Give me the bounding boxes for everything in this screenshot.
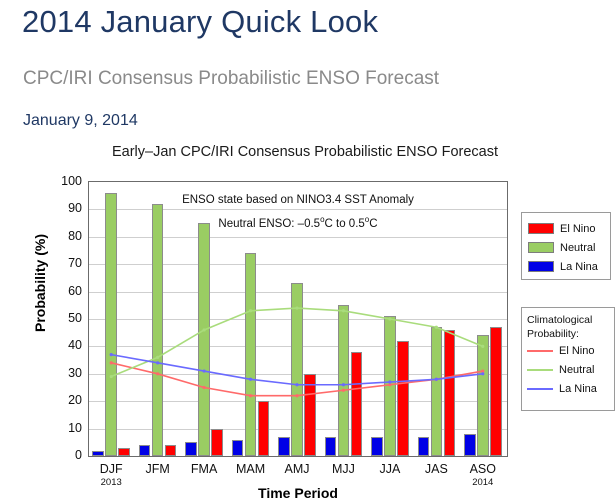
climatology-point: [249, 309, 252, 312]
x-axis-tick-label: AMJ: [284, 462, 309, 476]
page-date: January 9, 2014: [23, 112, 138, 130]
climatology-point: [481, 345, 484, 348]
legend-swatch-icon: [528, 261, 554, 272]
climatology-point: [481, 369, 484, 372]
legend-climatology-heading-1: Climatological: [527, 313, 614, 327]
climatology-point: [110, 353, 113, 356]
chart-annotation-neutral-range: Neutral ENSO: –0.5oC to 0.5oC: [89, 215, 507, 230]
climatology-point: [435, 378, 438, 381]
climatology-point: [295, 383, 298, 386]
climatology-point: [295, 306, 298, 309]
y-axis-tick-label: 100: [44, 175, 82, 187]
x-axis-tick-label: JJA: [379, 462, 400, 476]
legend-swatch-icon: [528, 223, 554, 234]
legend-clim-item-el-nino: El Nino: [527, 341, 614, 360]
x-axis-label-group: MAM: [227, 462, 273, 476]
enso-forecast-chart: Early–Jan CPC/IRI Consensus Probabilisti…: [0, 140, 616, 502]
x-axis-tick-label: JFM: [146, 462, 170, 476]
climatology-point: [342, 389, 345, 392]
x-axis-label-group: JFM: [134, 462, 180, 476]
page-title: 2014 January Quick Look: [22, 4, 378, 40]
climatology-point: [110, 361, 113, 364]
y-axis-tick-label: 70: [44, 257, 82, 269]
climatology-point: [481, 372, 484, 375]
y-axis-tick-label: 80: [44, 230, 82, 242]
climatology-point: [388, 383, 391, 386]
chart-title: Early–Jan CPC/IRI Consensus Probabilisti…: [60, 144, 550, 160]
x-axis-tick-label: JAS: [425, 462, 448, 476]
x-axis-tick-label: ASO: [470, 462, 496, 476]
x-axis-label-group: JJA: [367, 462, 413, 476]
climatology-point: [295, 394, 298, 397]
annotation-neutral-mid: C to 0.5: [325, 218, 365, 230]
legend-label: Neutral: [559, 364, 594, 376]
y-axis-title-wrap: Probability (%): [0, 275, 120, 295]
legend-clim-item-la-nina: La Nina: [527, 379, 614, 398]
chart-annotation-enso-state: ENSO state based on NINO3.4 SST Anomaly: [89, 194, 507, 206]
y-axis-tick-label: 20: [44, 394, 82, 406]
legend-label: La Nina: [560, 261, 598, 273]
climatology-point: [388, 317, 391, 320]
y-axis-tick-label: 40: [44, 339, 82, 351]
climatology-point: [156, 372, 159, 375]
climatology-point: [203, 386, 206, 389]
legend-item-neutral: Neutral: [528, 238, 610, 257]
climatology-point: [342, 309, 345, 312]
legend-label: El Nino: [559, 345, 594, 357]
climatology-point: [203, 369, 206, 372]
legend-clim-item-neutral: Neutral: [527, 360, 614, 379]
legend-line-icon: [527, 369, 553, 371]
climatology-point: [203, 328, 206, 331]
x-axis-tick-label: FMA: [191, 462, 217, 476]
y-axis-tick-label: 10: [44, 422, 82, 434]
legend-label: La Nina: [559, 383, 597, 395]
legend-line-icon: [527, 388, 553, 390]
annotation-neutral-post: C: [369, 218, 377, 230]
plot-area: ENSO state based on NINO3.4 SST Anomaly …: [88, 181, 508, 457]
climatology-point: [342, 383, 345, 386]
legend-item-el-nino: El Nino: [528, 219, 610, 238]
legend-climatology-rows: El NinoNeutralLa Nina: [527, 341, 614, 398]
annotation-neutral-pre: Neutral ENSO: –0.5: [218, 218, 320, 230]
x-axis-tick-label: MJJ: [332, 462, 355, 476]
x-axis-title: Time Period: [88, 485, 508, 501]
y-axis-tick-label: 90: [44, 202, 82, 214]
y-axis-tick-label: 0: [44, 449, 82, 461]
climatology-point: [110, 375, 113, 378]
y-axis-tick-label: 30: [44, 367, 82, 379]
climatology-point: [435, 326, 438, 329]
climatology-point: [249, 394, 252, 397]
page-subtitle: CPC/IRI Consensus Probabilistic ENSO For…: [23, 68, 439, 90]
page-root: 2014 January Quick Look CPC/IRI Consensu…: [0, 0, 616, 502]
legend-label: Neutral: [560, 242, 595, 254]
y-axis-title: Probability (%): [32, 203, 48, 363]
legend-item-la-nina: La Nina: [528, 257, 610, 276]
climatology-point: [388, 380, 391, 383]
climatology-point: [156, 356, 159, 359]
x-axis-tick-label: DJF: [100, 462, 123, 476]
climatology-point: [249, 378, 252, 381]
x-axis-label-group: JAS: [413, 462, 459, 476]
legend-forecast: El NinoNeutralLa Nina: [521, 212, 611, 280]
legend-climatology: Climatological Probability: El NinoNeutr…: [521, 307, 615, 411]
x-axis-label-group: AMJ: [274, 462, 320, 476]
legend-climatology-heading-2: Probability:: [527, 327, 614, 341]
legend-swatch-icon: [528, 242, 554, 253]
x-axis-label-group: MJJ: [320, 462, 366, 476]
y-axis-tick-label: 50: [44, 312, 82, 324]
x-axis-tick-label: MAM: [236, 462, 265, 476]
climatology-line-la-nina: [111, 355, 483, 385]
x-axis-label-group: FMA: [181, 462, 227, 476]
legend-label: El Nino: [560, 223, 595, 235]
climatology-line-neutral: [111, 308, 483, 376]
legend-line-icon: [527, 350, 553, 352]
climatology-point: [156, 361, 159, 364]
